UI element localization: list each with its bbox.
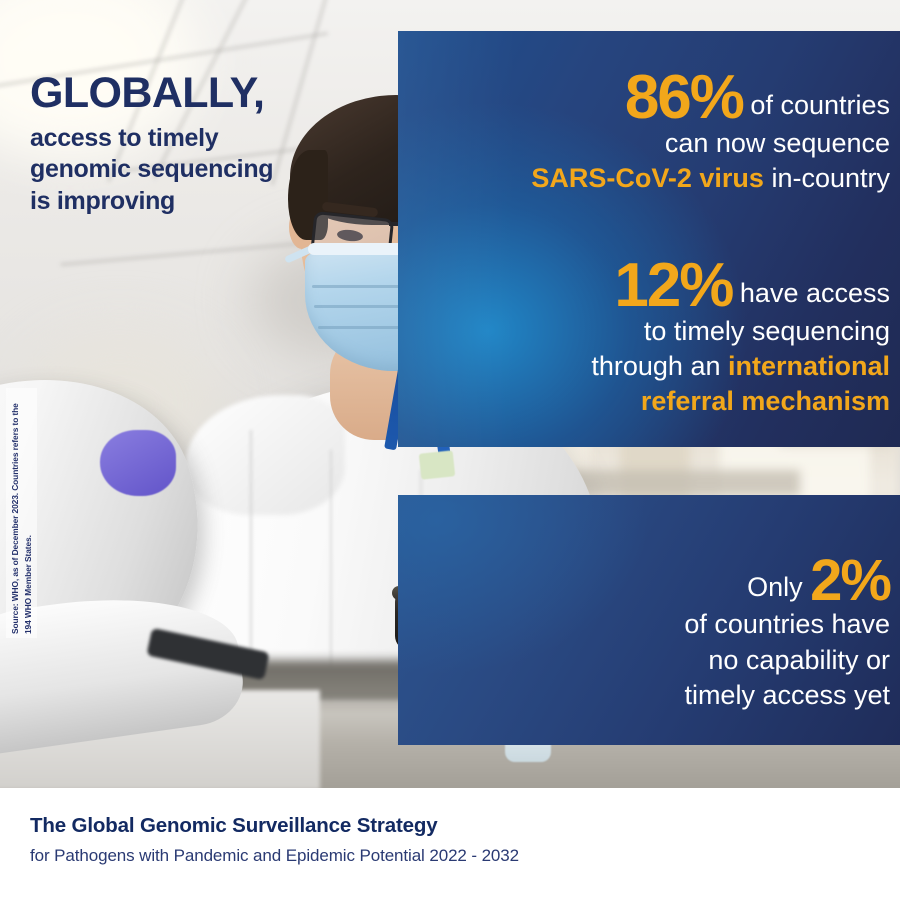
stat-86-line-3: SARS-CoV-2 virus in-country [440,161,890,196]
headline-line-2: genomic sequencing [30,154,380,186]
stat-12-value: 12% [614,251,732,320]
source-note: Source: WHO, as of December 2023. Countr… [6,138,32,388]
stat-2-line-3: no capability or [560,643,890,679]
stat-block-12-percent: 12% have access to timely sequencing thr… [430,258,890,419]
headline-line-1: access to timely [30,123,380,155]
footer-text-block: The Global Genomic Surveillance Strategy… [30,814,519,866]
headline-emphasis: GLOBALLY, [30,72,380,116]
page-title: GLOBALLY, access to timely genomic seque… [30,72,380,217]
stat-2-line-1: Only 2% [560,555,890,607]
stat-12-accent-term-2: referral mechanism [430,384,890,419]
id-badge [419,450,456,479]
headline-line-3: is improving [30,186,380,218]
stat-86-value: 86% [625,63,743,132]
stat-2-value: 2% [810,548,890,613]
nitrile-glove-left [100,430,176,496]
stat-2-line-4: timely access yet [560,678,890,714]
stat-86-line-2: can now sequence [440,126,890,161]
stat-12-line-1: 12% have access [430,258,890,314]
strategy-title: The Global Genomic Surveillance Strategy [30,814,519,839]
stat-2-prefix: Only [747,572,810,602]
stat-block-86-percent: 86% of countries can now sequence SARS-C… [440,70,890,196]
stat-86-accent-term: SARS-CoV-2 virus [531,163,764,193]
stat-86-line-1: 86% of countries [440,70,890,126]
stat-86-line-3-text: in-country [764,163,890,193]
stat-12-line-3-text: through an [591,351,728,381]
footer-bar: The Global Genomic Surveillance Strategy… [0,788,900,899]
infographic-poster: GLOBALLY, access to timely genomic seque… [0,0,900,899]
stat-12-line-2: to timely sequencing [430,314,890,349]
stat-12-line-3: through an international [430,349,890,384]
stat-12-line-1-text: have access [732,278,890,308]
stat-86-line-1-text: of countries [743,90,890,120]
strategy-subtitle: for Pathogens with Pandemic and Epidemic… [30,846,519,866]
stat-block-2-percent: Only 2% of countries have no capability … [560,555,890,714]
source-note-text: Source: WHO, as of December 2023. Countr… [6,388,37,638]
stat-2-line-2: of countries have [560,607,890,643]
stat-12-accent-term-1: international [728,351,890,381]
